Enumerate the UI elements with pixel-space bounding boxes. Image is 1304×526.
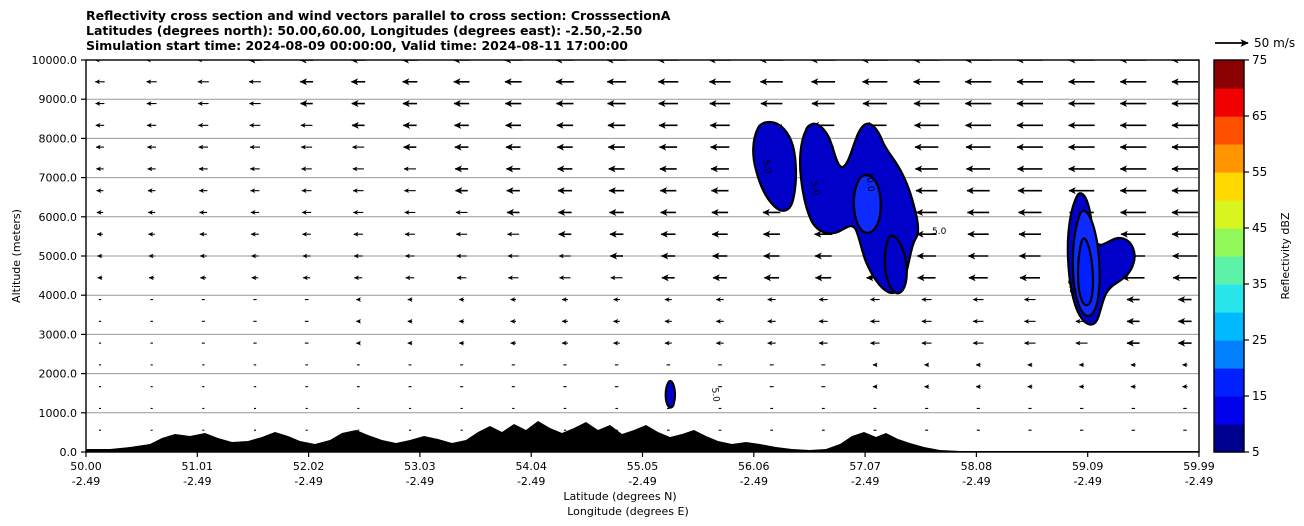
reference-wind-label: 50 m/s <box>1254 36 1295 50</box>
reflectivity-region-shower-low <box>666 381 675 408</box>
y-tick-label: 9000.0 <box>39 93 78 106</box>
y-axis-label: Altitude (meters) <box>10 209 23 303</box>
colorbar-segment[interactable] <box>1214 424 1244 453</box>
y-tick-label: 1000.0 <box>39 407 78 420</box>
y-tick-label: 8000.0 <box>39 132 78 145</box>
x-tick-label-latitude: 51.01 <box>182 460 214 473</box>
colorbar-tick-label: 5 <box>1252 445 1260 459</box>
colorbar-tick-label: 65 <box>1252 109 1267 123</box>
colorbar-segment[interactable] <box>1214 200 1244 229</box>
colorbar-segment[interactable] <box>1214 116 1244 145</box>
x-tick-label-longitude: -2.49 <box>962 475 990 488</box>
y-tick-label: 6000.0 <box>39 211 78 224</box>
x-tick-label-longitude: -2.49 <box>1073 475 1101 488</box>
x-tick-label-latitude: 54.04 <box>515 460 547 473</box>
colorbar-tick-label: 25 <box>1252 333 1267 347</box>
y-tick-label: 7000.0 <box>39 172 78 185</box>
y-tick-label: 0.0 <box>60 446 78 459</box>
x-tick-label-latitude: 50.00 <box>70 460 102 473</box>
colorbar-tick-label: 55 <box>1252 165 1267 179</box>
colorbar-segment[interactable] <box>1214 256 1244 285</box>
x-tick-label-longitude: -2.49 <box>1185 475 1213 488</box>
colorbar-segment[interactable] <box>1214 60 1244 89</box>
colorbar-segment[interactable] <box>1214 312 1244 341</box>
x-tick-label-longitude: -2.49 <box>851 475 879 488</box>
x-tick-label-longitude: -2.49 <box>294 475 322 488</box>
y-tick-label: 4000.0 <box>39 289 78 302</box>
contour-label-5: 5.0 <box>709 387 721 403</box>
x-tick-label-longitude: -2.49 <box>517 475 545 488</box>
colorbar-segment[interactable] <box>1214 340 1244 369</box>
x-axis-label-latitude: Latitude (degrees N) <box>563 490 676 503</box>
reference-wind-vector: 50 m/s <box>1215 36 1295 50</box>
colorbar-label: Reflectivity dBZ <box>1279 212 1292 299</box>
x-tick-label-latitude: 56.06 <box>738 460 770 473</box>
x-tick-label-longitude: -2.49 <box>72 475 100 488</box>
x-tick-label-latitude: 55.05 <box>627 460 659 473</box>
colorbar-tick-label: 35 <box>1252 277 1267 291</box>
y-axis: 0.01000.02000.03000.04000.05000.06000.07… <box>32 54 87 459</box>
y-tick-label: 5000.0 <box>39 250 78 263</box>
x-axis: 50.00-2.4951.01-2.4952.02-2.4953.03-2.49… <box>70 452 1215 488</box>
x-tick-label-longitude: -2.49 <box>628 475 656 488</box>
colorbar-segment[interactable] <box>1214 144 1244 173</box>
figure-root: Reflectivity cross section and wind vect… <box>0 0 1304 526</box>
colorbar-tick-label: 75 <box>1252 53 1267 67</box>
y-tick-label: 3000.0 <box>39 328 78 341</box>
x-tick-label-latitude: 59.09 <box>1072 460 1104 473</box>
colorbar-segment[interactable] <box>1214 284 1244 313</box>
colorbar-segment[interactable] <box>1214 368 1244 397</box>
x-tick-label-latitude: 58.08 <box>961 460 993 473</box>
contour-label-3: 5.0 <box>932 227 947 237</box>
x-tick-label-longitude: -2.49 <box>183 475 211 488</box>
colorbar[interactable]: 515253545556575 <box>1214 53 1267 459</box>
x-tick-label-latitude: 59.99 <box>1183 460 1215 473</box>
y-tick-label: 2000.0 <box>39 368 78 381</box>
colorbar-tick-label: 15 <box>1252 389 1267 403</box>
cross-section-plot: 5.0 5.0 10.0 5.0 5.0 5.0 0.01000.02000.0… <box>0 0 1304 526</box>
colorbar-segment[interactable] <box>1214 172 1244 201</box>
x-tick-label-latitude: 57.07 <box>849 460 881 473</box>
x-tick-label-longitude: -2.49 <box>740 475 768 488</box>
y-tick-label: 10000.0 <box>32 54 78 67</box>
x-axis-label-longitude: Longitude (degrees E) <box>567 505 689 518</box>
colorbar-tick-label: 45 <box>1252 221 1267 235</box>
colorbar-segment[interactable] <box>1214 88 1244 117</box>
x-tick-label-latitude: 52.02 <box>293 460 325 473</box>
colorbar-segment[interactable] <box>1214 396 1244 425</box>
colorbar-segment[interactable] <box>1214 228 1244 257</box>
x-tick-label-longitude: -2.49 <box>406 475 434 488</box>
x-tick-label-latitude: 53.03 <box>404 460 436 473</box>
